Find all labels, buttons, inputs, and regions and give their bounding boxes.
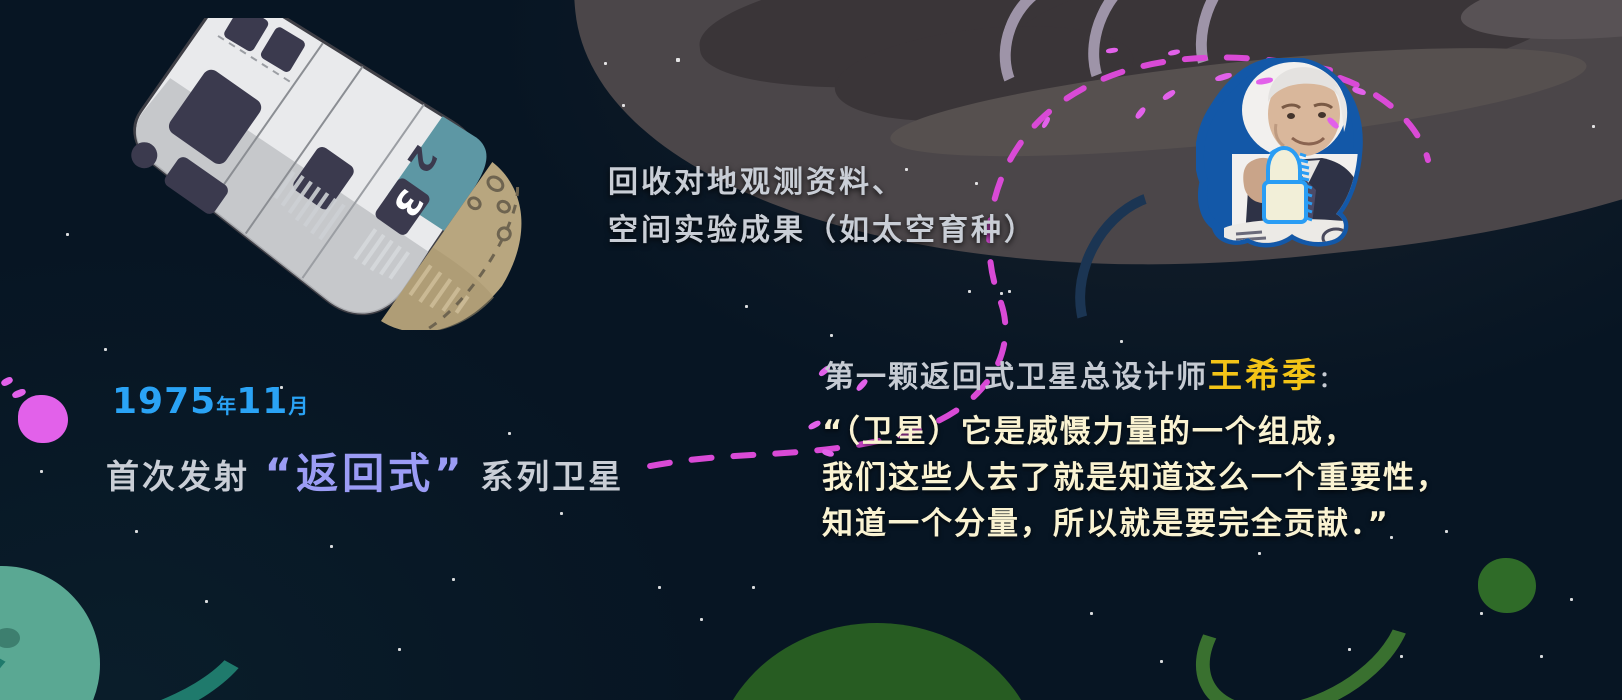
- star: [830, 334, 833, 337]
- launch-statement: 首次发射 “返回式” 系列卫星: [106, 440, 624, 501]
- star: [1258, 552, 1261, 555]
- star: [1008, 290, 1011, 293]
- green-planet-small: [1478, 558, 1536, 613]
- launch-date: 1975年11月: [112, 381, 308, 422]
- star: [676, 58, 680, 62]
- star: [1400, 655, 1403, 658]
- magenta-blob-decoration: [18, 395, 68, 443]
- star: [452, 578, 455, 581]
- star: [604, 62, 607, 65]
- star: [1120, 340, 1123, 343]
- star: [1540, 655, 1543, 658]
- launch-month: 11: [236, 381, 288, 422]
- star: [745, 305, 748, 308]
- star: [752, 586, 755, 589]
- launch-year-unit: 年: [216, 394, 236, 418]
- star: [205, 600, 208, 603]
- star: [398, 648, 401, 651]
- designer-role: 第一颗返回式卫星总设计师: [824, 360, 1208, 395]
- quote-line-1: “（卫星）它是威慑力量的一个组成，: [822, 406, 1357, 451]
- star: [1090, 612, 1093, 615]
- designer-portrait: [1196, 58, 1368, 252]
- star: [968, 290, 971, 293]
- star: [658, 586, 661, 589]
- star: [40, 470, 43, 473]
- description-line-1: 回收对地观测资料、: [608, 157, 905, 201]
- launch-suffix: 系列卫星: [480, 457, 624, 496]
- star: [135, 530, 138, 533]
- star: [560, 512, 563, 515]
- star: [1000, 292, 1003, 295]
- launch-month-unit: 月: [288, 394, 308, 418]
- star: [622, 104, 625, 107]
- star: [508, 432, 511, 435]
- star: [104, 348, 107, 351]
- star: [905, 168, 908, 171]
- star: [1570, 598, 1573, 601]
- designer-name: 王希季: [1208, 356, 1319, 396]
- launch-highlight: “返回式”: [265, 449, 466, 498]
- quote-line-2: 我们这些人去了就是知道这么一个重要性，: [822, 452, 1449, 497]
- credit-colon: ：: [1319, 368, 1343, 393]
- star: [1160, 660, 1163, 663]
- launch-year: 1975: [112, 381, 216, 422]
- star: [1445, 530, 1448, 533]
- star: [1592, 125, 1595, 128]
- designer-credit: 第一颗返回式卫星总设计师王希季：: [824, 348, 1343, 397]
- infographic-stage: 2 3: [0, 0, 1622, 700]
- return-capsule-illustration: 2 3: [100, 18, 570, 330]
- star: [700, 618, 703, 621]
- star: [1348, 648, 1351, 651]
- star: [66, 233, 69, 236]
- description-line-2: 空间实验成果（如太空育种）: [608, 205, 1037, 249]
- launch-prefix: 首次发射: [106, 457, 250, 496]
- star: [1480, 612, 1483, 615]
- star: [1390, 536, 1393, 539]
- star: [330, 545, 333, 548]
- star: [975, 182, 978, 185]
- quote-line-3: 知道一个分量，所以就是要完全贡献．”: [822, 498, 1390, 543]
